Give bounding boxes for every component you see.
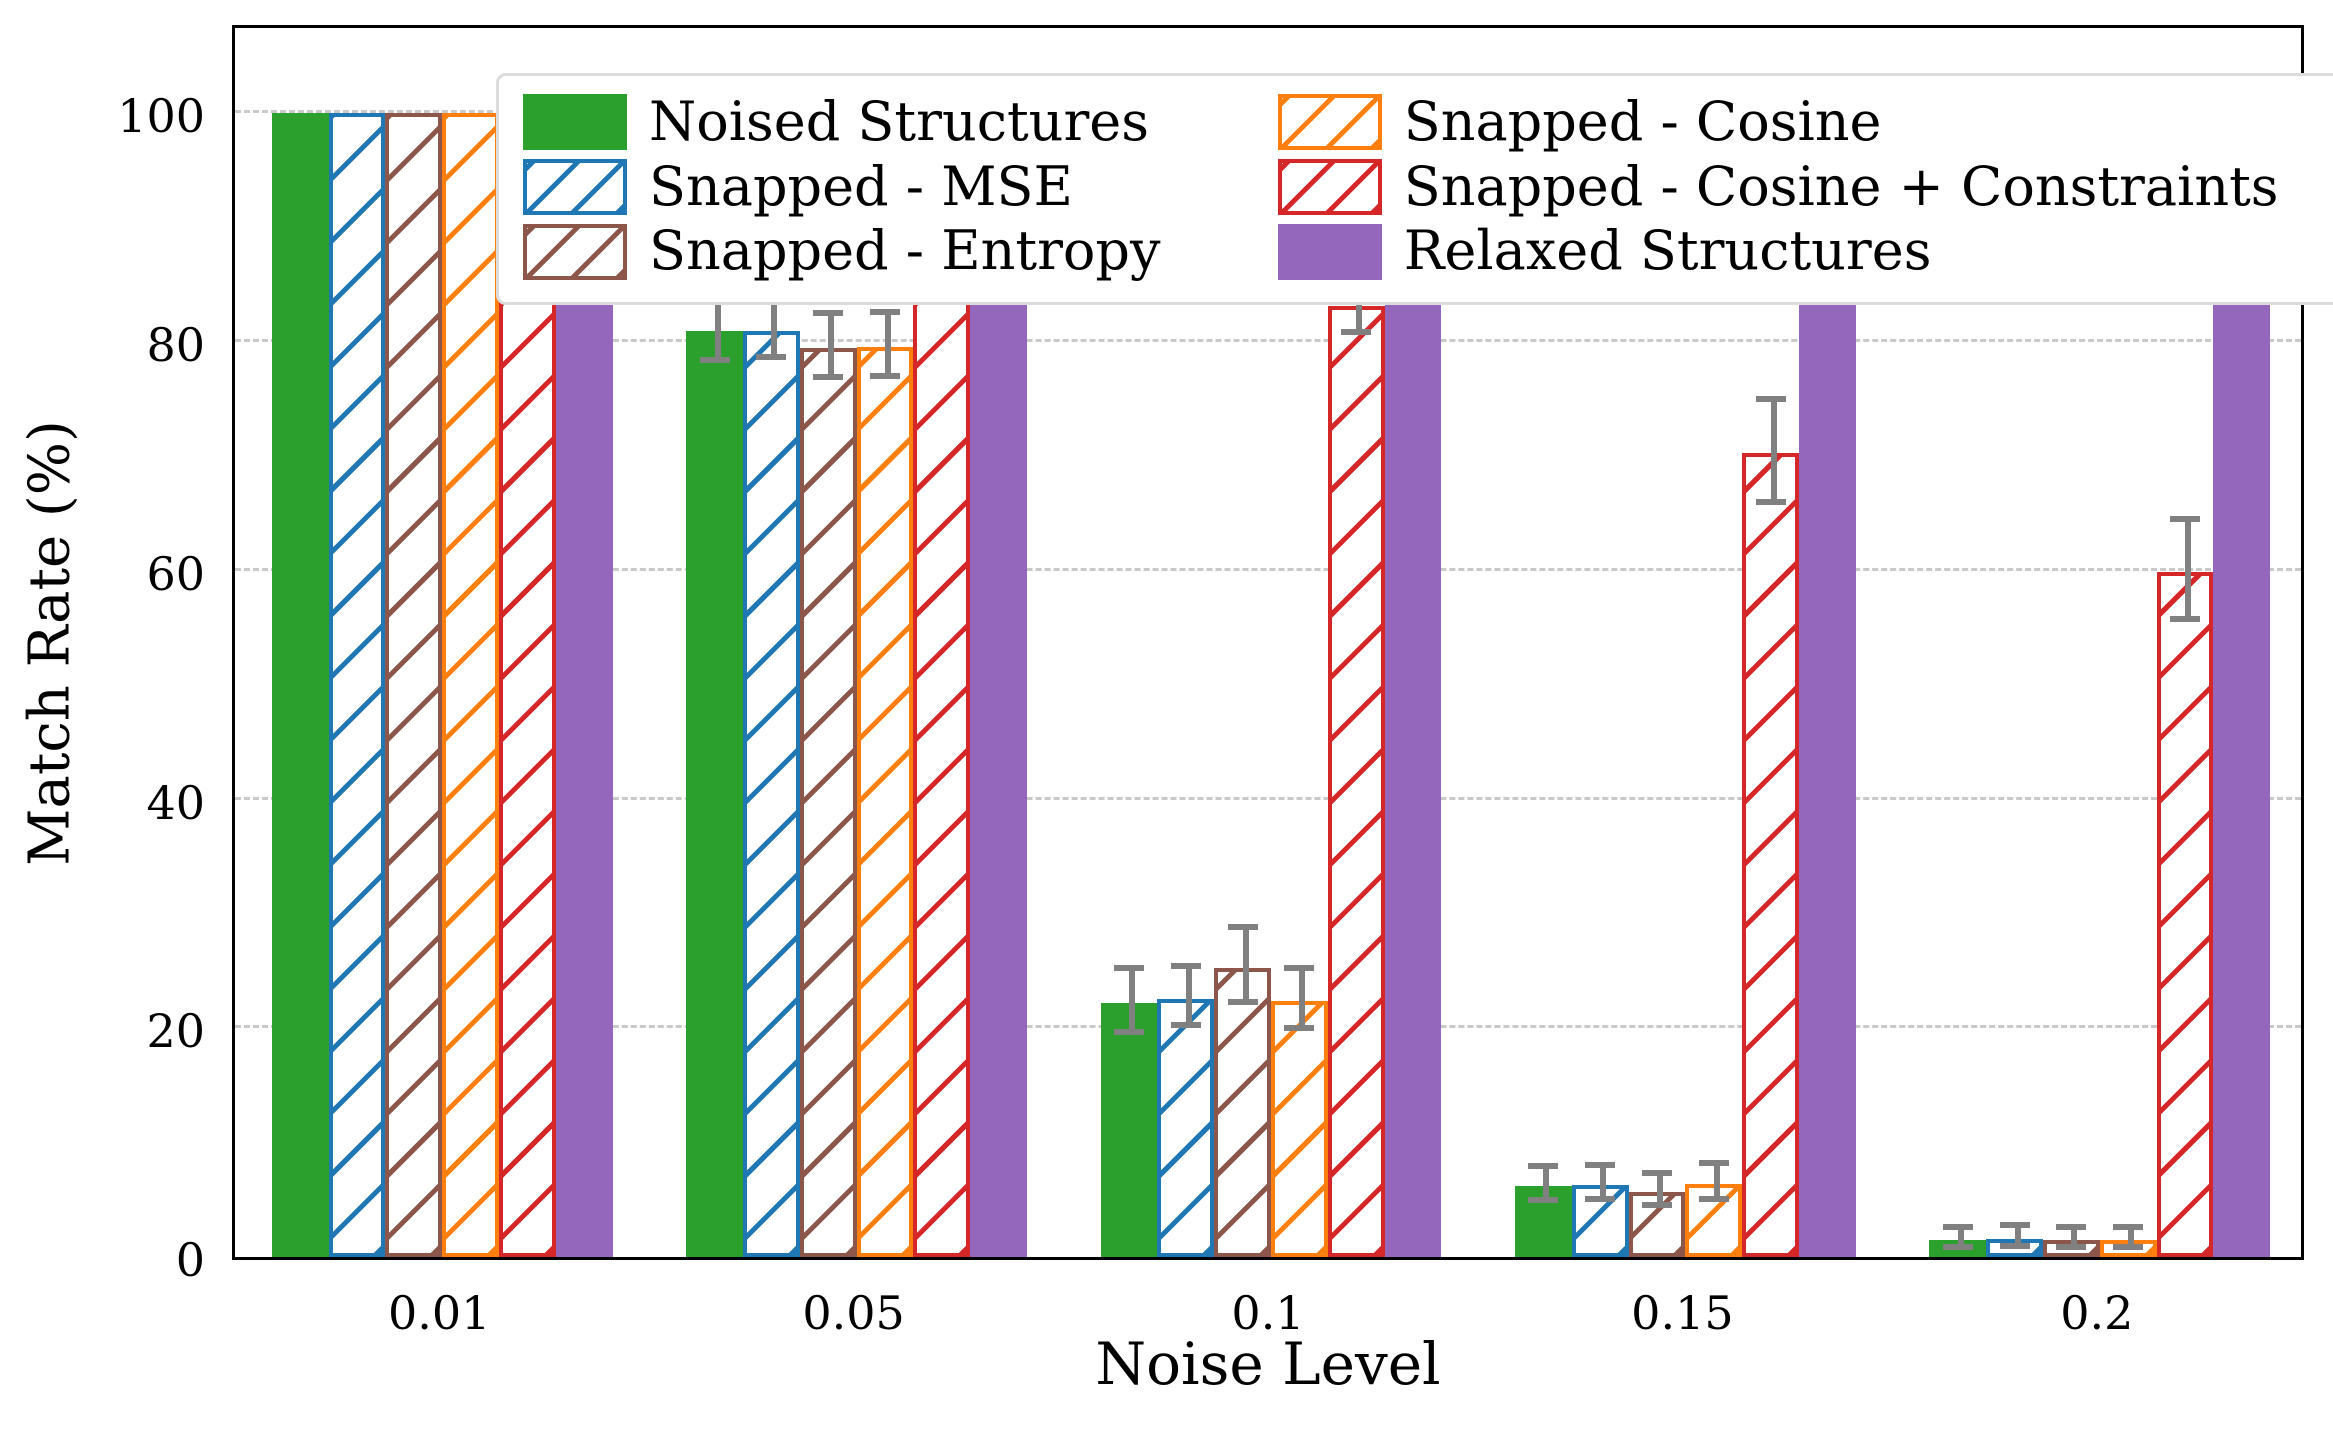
error-bar-cap: [1585, 1196, 1615, 1202]
legend-label-noised-structures: Noised Structures: [649, 94, 1149, 151]
legend-swatch-cell: [1278, 155, 1404, 220]
bar-0.05-noised-structures: [686, 331, 743, 1257]
legend-swatch-cell: [523, 155, 649, 220]
y-tick-label: 100: [30, 89, 205, 143]
legend-label-cell: Snapped - Cosine: [1404, 90, 2333, 155]
error-bar-cap: [870, 309, 900, 315]
error-bar-cap: [1642, 1202, 1672, 1208]
legend-row: Snapped - MSE Snapped - Cosine + Constra…: [523, 155, 2333, 220]
x-axis-label: Noise Level: [232, 1330, 2304, 1398]
bar-0.1-relaxed-structures: [1385, 162, 1442, 1257]
error-bar-cap: [1943, 1224, 1973, 1230]
legend-swatch-cell: [523, 219, 649, 284]
y-tick-label: 80: [30, 318, 205, 372]
bar-0.1-snapped-mse: [1157, 999, 1214, 1257]
plot-axes: Noised Structures Snapped - Cosine Snapp…: [232, 25, 2304, 1260]
error-bar: [828, 316, 834, 380]
legend-label-snapped-mse: Snapped - MSE: [649, 159, 1073, 216]
error-bar-cap: [1699, 1160, 1729, 1166]
bar-0.01-snapped-mse: [329, 113, 386, 1257]
legend-swatch-cell: [1278, 90, 1404, 155]
legend-row: Noised Structures Snapped - Cosine: [523, 90, 2333, 155]
bar-0.1-snapped-cosine-constraints: [1328, 306, 1385, 1257]
bar-0.05-snapped-entropy: [800, 348, 857, 1257]
legend-label-cell: Snapped - MSE: [649, 155, 1278, 220]
error-bar-cap: [1528, 1197, 1558, 1203]
error-bar-cap: [2000, 1222, 2030, 1228]
error-bar-cap: [1642, 1170, 1672, 1176]
error-bar-cap: [1228, 999, 1258, 1005]
legend-label-snapped-entropy: Snapped - Entropy: [649, 223, 1161, 280]
error-bar: [1771, 402, 1777, 505]
error-bar-cap: [1341, 329, 1371, 335]
error-bar: [1186, 969, 1192, 1028]
error-bar-cap: [813, 374, 843, 380]
legend-row: Snapped - Entropy Relaxed Structures: [523, 219, 2333, 284]
error-bar-cap: [870, 373, 900, 379]
legend-swatch-relaxed-structures: [1278, 224, 1382, 280]
bar-0.2-relaxed-structures: [2213, 262, 2270, 1257]
error-bar: [1243, 930, 1249, 1005]
error-bar: [2185, 522, 2191, 623]
legend-swatch-snapped-cosine: [1278, 94, 1382, 150]
y-tick-label: 20: [30, 1004, 205, 1058]
bar-0.01-snapped-entropy: [385, 113, 442, 1257]
error-bar-cap: [1756, 396, 1786, 402]
error-bar-cap: [2056, 1224, 2086, 1230]
legend-swatch-cell: [523, 90, 649, 155]
bar-0.01-snapped-cosine: [442, 113, 499, 1257]
error-bar-cap: [1943, 1244, 1973, 1250]
error-bar-cap: [756, 354, 786, 360]
bar-0.1-snapped-cosine: [1271, 1001, 1328, 1257]
error-bar-cap: [1284, 1025, 1314, 1031]
error-bar: [885, 315, 891, 379]
error-bar: [771, 301, 777, 360]
legend-label-relaxed-structures: Relaxed Structures: [1404, 223, 1932, 280]
error-bar-cap: [813, 310, 843, 316]
legend-label-snapped-cosine: Snapped - Cosine: [1404, 94, 1882, 151]
legend-swatch-snapped-entropy: [523, 224, 627, 280]
legend-label-snapped-cosine-constraints: Snapped - Cosine + Constraints: [1404, 159, 2279, 216]
error-bar-cap: [1699, 1196, 1729, 1202]
legend-label-cell: Snapped - Cosine + Constraints: [1404, 155, 2333, 220]
error-bar-cap: [700, 357, 730, 363]
legend-swatch-snapped-cosine-constraints: [1278, 159, 1382, 215]
y-tick-label: 0: [30, 1233, 205, 1287]
bar-0.05-snapped-mse: [743, 331, 800, 1257]
legend-swatch-noised-structures: [523, 94, 627, 150]
error-bar: [1129, 971, 1135, 1035]
legend-label-cell: Snapped - Entropy: [649, 219, 1278, 284]
error-bar-cap: [2056, 1244, 2086, 1250]
legend-label-cell: Noised Structures: [649, 90, 1278, 155]
error-bar-cap: [2170, 516, 2200, 522]
legend-swatch-snapped-mse: [523, 159, 627, 215]
error-bar: [1299, 971, 1305, 1030]
error-bar-cap: [1284, 965, 1314, 971]
legend-swatch-cell: [1278, 219, 1404, 284]
error-bar-cap: [1171, 963, 1201, 969]
error-bar-cap: [1114, 965, 1144, 971]
error-bar-cap: [2170, 616, 2200, 622]
error-bar-cap: [2113, 1244, 2143, 1250]
bar-0.2-snapped-cosine-constraints: [2157, 572, 2214, 1257]
bar-0.1-snapped-entropy: [1214, 968, 1271, 1257]
chart-legend[interactable]: Noised Structures Snapped - Cosine Snapp…: [496, 73, 2333, 305]
error-bar-cap: [1114, 1029, 1144, 1035]
bar-0.05-snapped-cosine: [857, 347, 914, 1257]
bar-0.1-noised-structures: [1101, 1003, 1158, 1257]
bar-0.01-noised-structures: [272, 113, 329, 1257]
error-bar-cap: [2000, 1243, 2030, 1249]
figure-canvas: Match Rate (%) 020406080100 Noised Struc…: [0, 0, 2333, 1431]
y-tick-label: 60: [30, 547, 205, 601]
error-bar: [715, 299, 721, 363]
error-bar-cap: [1585, 1162, 1615, 1168]
error-bar-cap: [1756, 499, 1786, 505]
error-bar-cap: [1528, 1163, 1558, 1169]
error-bar-cap: [1228, 924, 1258, 930]
y-tick-label: 40: [30, 776, 205, 830]
bar-0.15-relaxed-structures: [1799, 197, 1856, 1257]
legend-label-cell: Relaxed Structures: [1404, 219, 2333, 284]
legend-table: Noised Structures Snapped - Cosine Snapp…: [523, 90, 2333, 284]
error-bar-cap: [1171, 1022, 1201, 1028]
bar-0.15-snapped-cosine-constraints: [1742, 453, 1799, 1257]
error-bar-cap: [2113, 1224, 2143, 1230]
